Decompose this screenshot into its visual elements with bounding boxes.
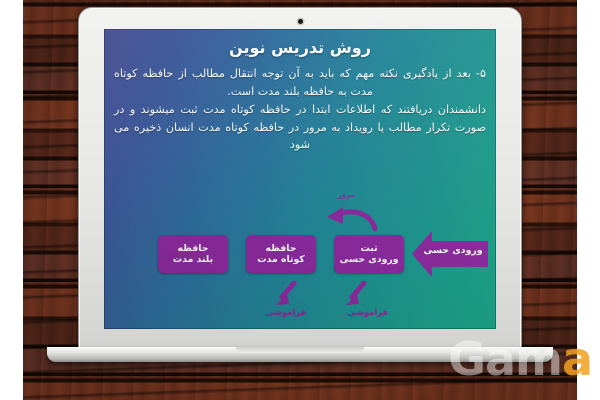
box-short-term-memory[interactable]: حافظه کوتاه مدت [246, 235, 316, 273]
box-sensory-register[interactable]: ثبت ورودی حسی [334, 235, 404, 273]
box-ltm-line1: حافظه [178, 243, 209, 255]
forgetting-label-1: فراموشی [265, 307, 306, 317]
laptop-device: روش تدریس نوین ۵- بعد از یادگیری نکته مه… [78, 7, 522, 355]
forgetting-arrow-icon-2 [343, 281, 369, 307]
box-stm-line1: حافظه [266, 243, 297, 255]
slide-body-text: ۵- بعد از یادگیری نکته مهم که باید به آن… [114, 65, 486, 155]
box-ltm-line2: بلند مدت [173, 254, 213, 266]
body-paragraph-2: دانشمندان دریافتند که اطلاعات ابتدا در ح… [114, 101, 486, 154]
laptop-base [47, 347, 553, 362]
memory-flow-diagram: مرور حافظه بلند مدت حافظه کوتاه مدت ثبت … [104, 181, 496, 329]
laptop-notch [236, 347, 364, 353]
box-stm-line2: کوتاه مدت [257, 254, 304, 266]
screenshot-root: روش تدریس نوین ۵- بعد از یادگیری نکته مه… [0, 0, 600, 400]
box-long-term-memory[interactable]: حافظه بلند مدت [158, 235, 228, 273]
webcam-icon [298, 19, 303, 24]
review-curved-arrow-icon [325, 205, 383, 233]
forgetting-label-2: فراموشی [347, 307, 388, 317]
forgetting-arrow-icon-1 [273, 281, 299, 307]
body-paragraph-1: ۵- بعد از یادگیری نکته مهم که باید به آن… [114, 65, 486, 100]
presentation-slide[interactable]: روش تدریس نوین ۵- بعد از یادگیری نکته مه… [104, 29, 496, 329]
sensory-input-label: ورودی حسی [422, 245, 484, 256]
box-reg-line2: ورودی حسی [340, 254, 399, 266]
review-label: مرور [337, 190, 355, 199]
box-reg-line1: ثبت [360, 243, 377, 255]
page-title: روش تدریس نوین [104, 38, 496, 57]
left-white-margin [0, 0, 23, 400]
right-white-margin [577, 0, 600, 400]
